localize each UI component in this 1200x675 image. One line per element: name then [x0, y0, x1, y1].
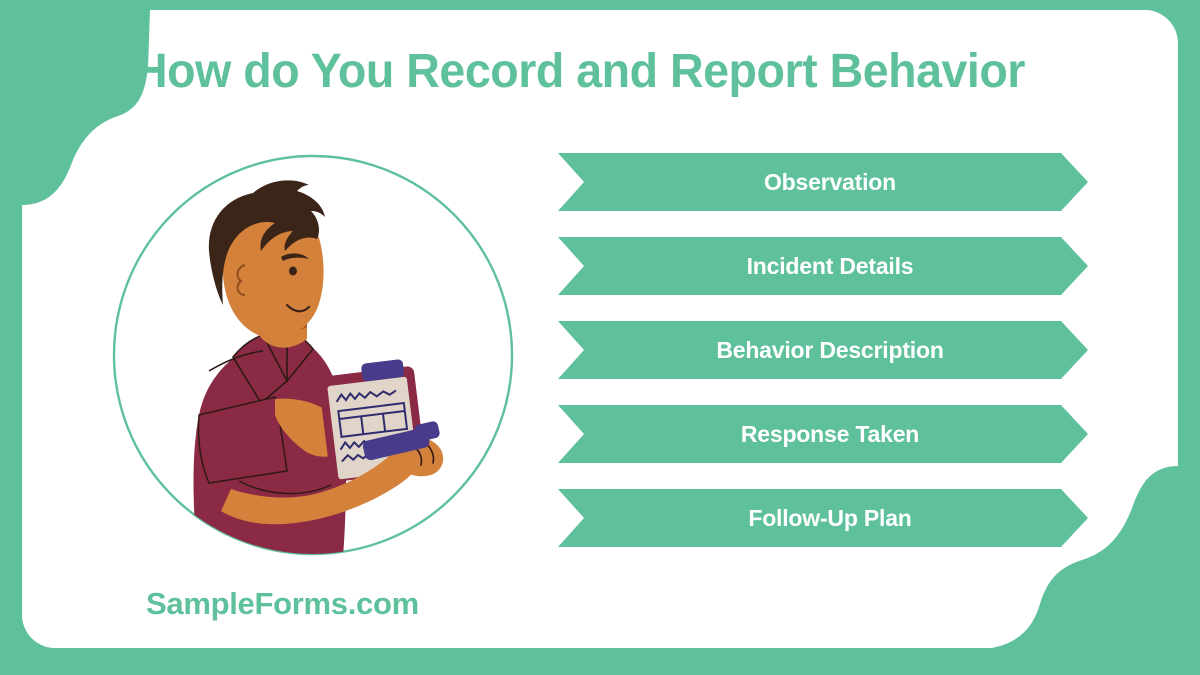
step-label: Observation: [750, 169, 896, 196]
step-banner-behavior-description[interactable]: Behavior Description: [558, 321, 1088, 379]
step-label: Behavior Description: [702, 337, 943, 364]
step-banner-response-taken[interactable]: Response Taken: [558, 405, 1088, 463]
eye: [289, 267, 297, 276]
process-step-list: Observation Incident Details Behavior De…: [558, 153, 1088, 558]
step-banner-follow-up-plan[interactable]: Follow-Up Plan: [558, 489, 1088, 547]
page-title: How do You Record and Report Behavior: [134, 44, 1104, 99]
step-banner-observation[interactable]: Observation: [558, 153, 1088, 211]
illustration-figure: [194, 180, 444, 557]
step-label: Follow-Up Plan: [734, 505, 911, 532]
step-banner-incident-details[interactable]: Incident Details: [558, 237, 1088, 295]
brand-wordmark[interactable]: SampleForms.com: [146, 586, 419, 622]
step-label: Response Taken: [727, 421, 919, 448]
illustration-man-writing-on-clipboard: [111, 153, 515, 557]
infographic-canvas: How do You Record and Report Behavior: [0, 0, 1200, 675]
step-label: Incident Details: [733, 253, 914, 280]
